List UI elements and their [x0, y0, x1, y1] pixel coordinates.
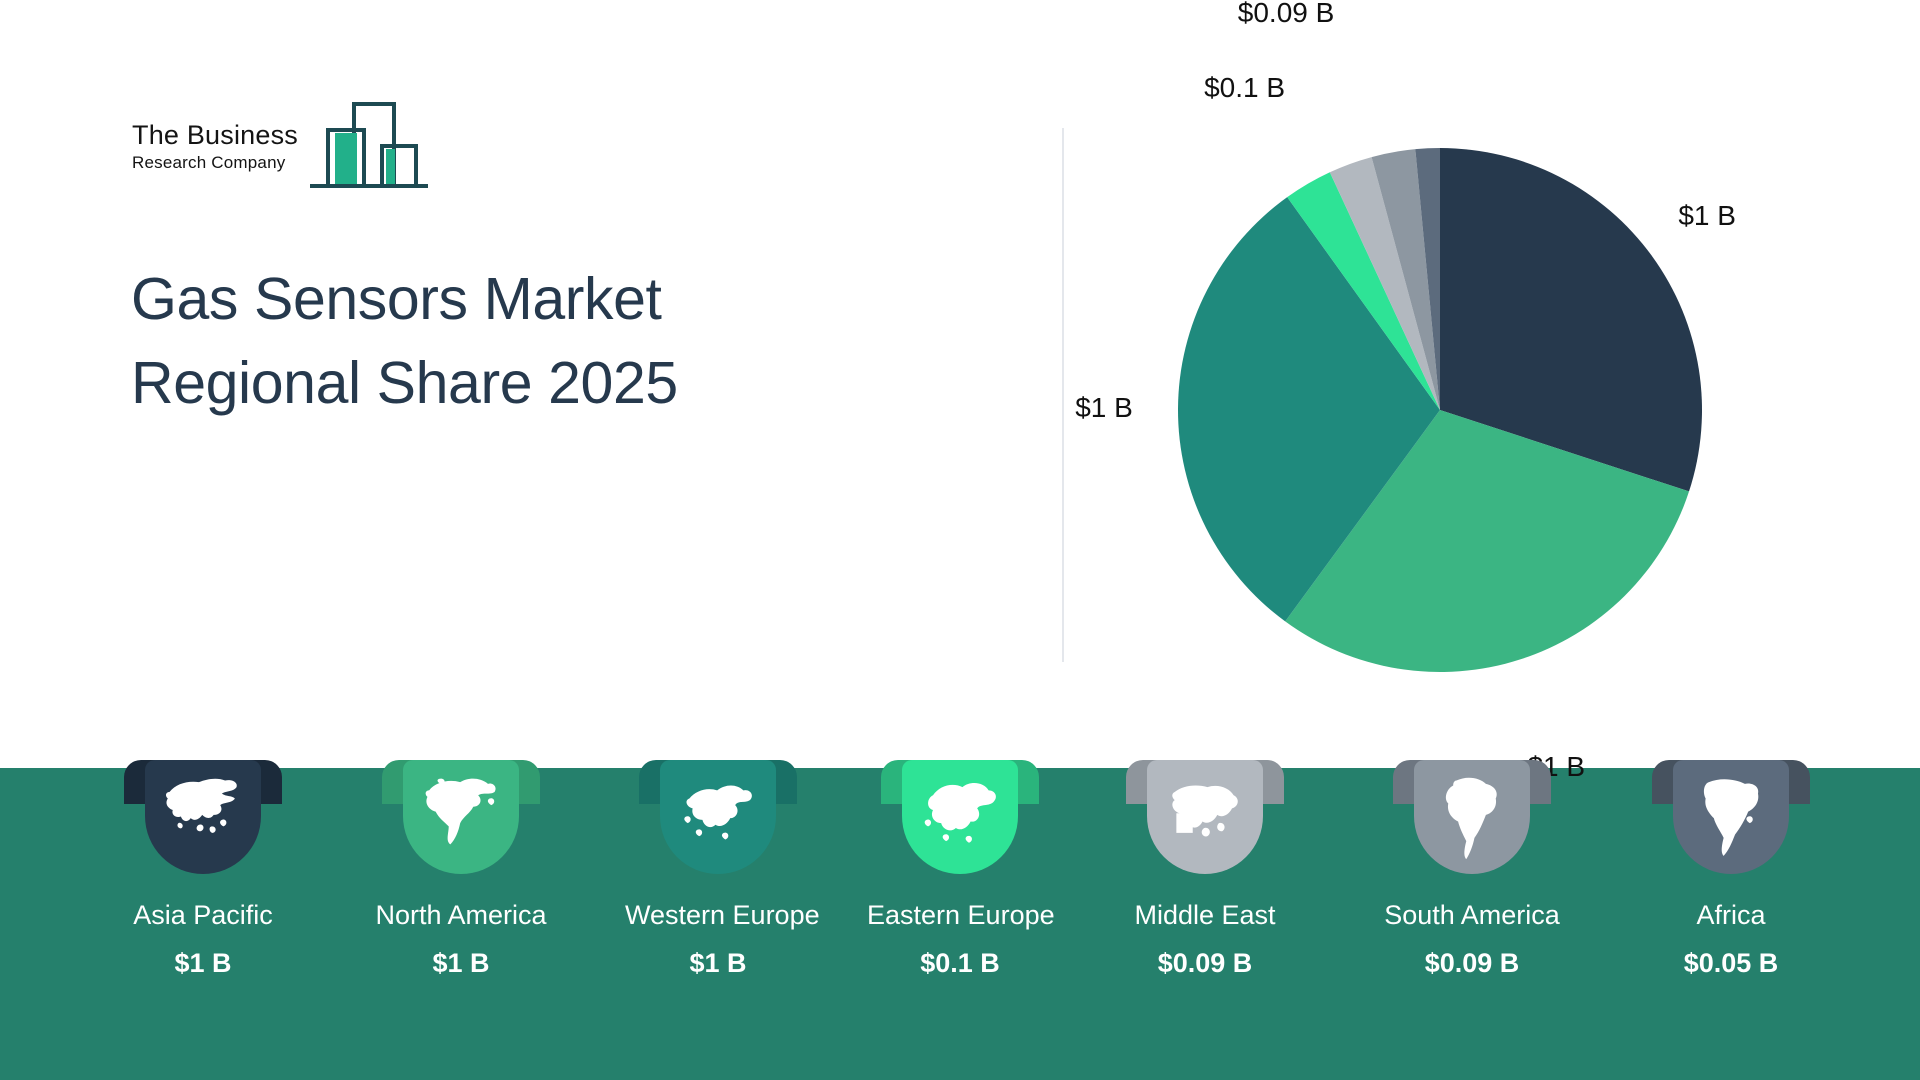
north-america-map-icon	[412, 774, 510, 864]
page-title: Gas Sensors Market Regional Share 2025	[131, 258, 891, 426]
region-name: Middle East	[1112, 902, 1298, 929]
region-card-north-america[interactable]: North America$1 B	[368, 748, 554, 977]
region-value: $0.1 B	[867, 950, 1053, 977]
region-badge-pin	[660, 760, 776, 874]
region-value: $1 B	[625, 950, 811, 977]
region-card-south-america[interactable]: South America$0.09 B	[1379, 748, 1565, 977]
pie-label-asia-pacific: $1 B	[1678, 200, 1736, 232]
region-value: $0.05 B	[1638, 950, 1824, 977]
region-card-eastern-europe[interactable]: Eastern Europe$0.1 B	[867, 748, 1053, 977]
region-name: Western Europe	[625, 902, 811, 929]
region-card-africa[interactable]: Africa$0.05 B	[1638, 748, 1824, 977]
brand-name-line2: Research Company	[132, 154, 307, 171]
region-badge	[1126, 748, 1284, 874]
region-name: North America	[368, 902, 554, 929]
pie-svg	[1160, 130, 1720, 690]
bar-chart-logo-icon	[310, 100, 428, 192]
region-badge-pin	[403, 760, 519, 874]
eastern-europe-map-icon	[911, 774, 1009, 864]
region-card-list: Asia Pacific$1 BNorth America$1 BWestern…	[0, 748, 1920, 1080]
region-card-middle-east[interactable]: Middle East$0.09 B	[1112, 748, 1298, 977]
region-badge	[382, 748, 540, 874]
region-badge	[124, 748, 282, 874]
pie-label-middle-east: $0.09 B	[1238, 0, 1335, 29]
page-title-line2: Regional Share 2025	[131, 342, 891, 426]
region-card-western-europe[interactable]: Western Europe$1 B	[625, 748, 811, 977]
region-value: $1 B	[110, 950, 296, 977]
region-badge-pin	[145, 760, 261, 874]
region-card-asia-pacific[interactable]: Asia Pacific$1 B	[110, 748, 296, 977]
region-value: $1 B	[368, 950, 554, 977]
regional-share-pie-chart: $1 B$1 B$1 B$0.1 B$0.09 B$0.09 B$0.05 B	[1160, 130, 1720, 690]
region-badge-pin	[1673, 760, 1789, 874]
region-name: Eastern Europe	[867, 902, 1053, 929]
middle-east-map-icon	[1156, 774, 1254, 864]
infographic-canvas: The Business Research Company Gas Sensor…	[0, 0, 1920, 1080]
asia-pacific-map-icon	[154, 774, 252, 864]
page-title-line1: Gas Sensors Market	[131, 258, 891, 342]
brand-name-line1: The Business	[132, 122, 307, 149]
region-name: Asia Pacific	[110, 902, 296, 929]
region-badge-pin	[1414, 760, 1530, 874]
region-name: Africa	[1638, 902, 1824, 929]
region-value: $0.09 B	[1379, 950, 1565, 977]
region-badge	[881, 748, 1039, 874]
region-badge-pin	[1147, 760, 1263, 874]
region-badge	[639, 748, 797, 874]
brand-logo-text: The Business Research Company	[132, 122, 307, 171]
region-badge	[1652, 748, 1810, 874]
brand-logo: The Business Research Company	[132, 100, 422, 196]
pie-label-western-europe: $1 B	[1075, 392, 1133, 424]
section-divider	[1062, 128, 1064, 662]
region-badge	[1393, 748, 1551, 874]
region-value: $0.09 B	[1112, 950, 1298, 977]
western-europe-map-icon	[669, 774, 767, 864]
region-badge-pin	[902, 760, 1018, 874]
africa-map-icon	[1682, 774, 1780, 864]
region-name: South America	[1379, 902, 1565, 929]
pie-label-eastern-europe: $0.1 B	[1204, 72, 1285, 104]
south-america-map-icon	[1423, 774, 1521, 864]
